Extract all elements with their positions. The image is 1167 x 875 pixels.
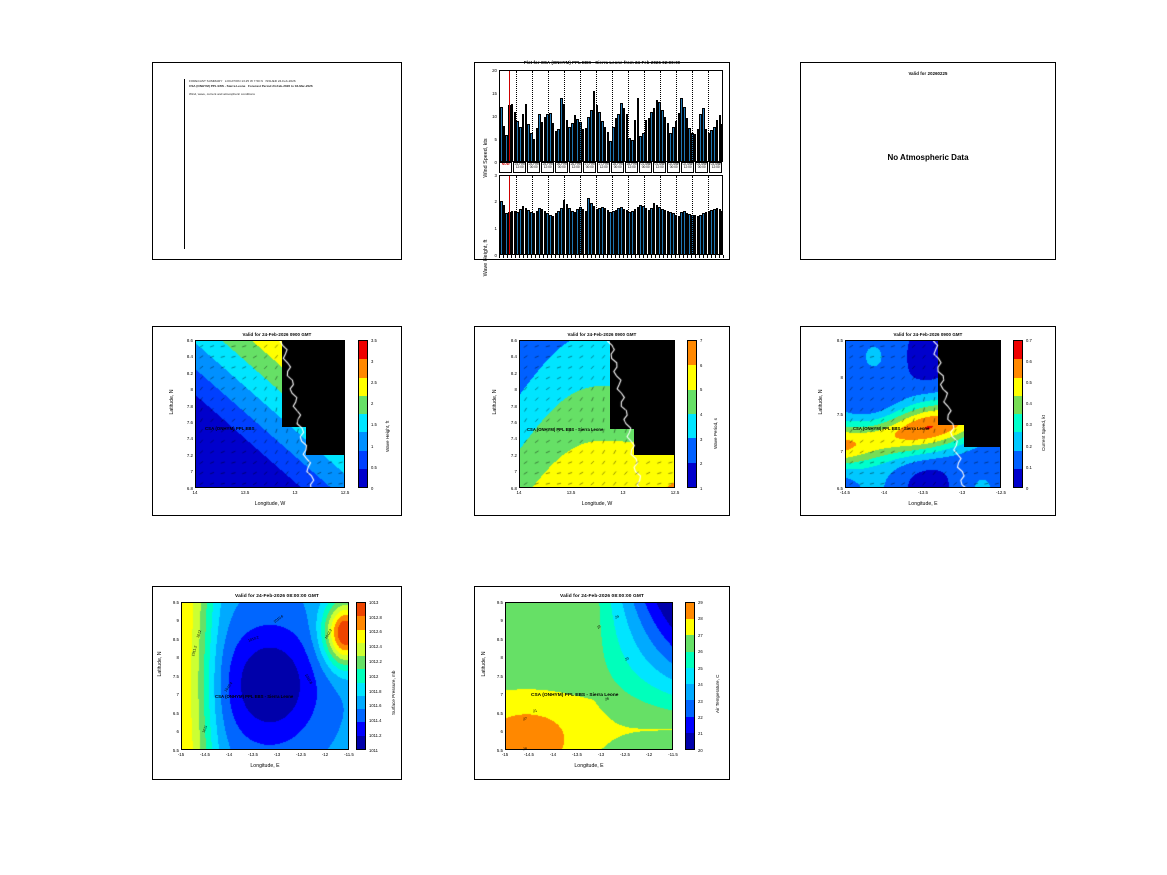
date-label: 28-Feb00:00 xyxy=(611,162,624,173)
ytick: 7.8 xyxy=(178,404,193,409)
colorbar-segment xyxy=(359,396,367,414)
ytick: 6.5 xyxy=(164,711,179,716)
gridline xyxy=(692,176,693,254)
gridline xyxy=(580,71,581,161)
axis-tick xyxy=(711,255,712,258)
forecast-header-panel: FORECAST SUMMARY LOCATION 13.25 W 7.50 N… xyxy=(152,62,402,260)
colorbar-tick: 1011.6 xyxy=(369,703,382,708)
axis-tick xyxy=(575,255,576,258)
air-temperature-map-panel: Valid for 24-Feb-2026 08:00:00 GMT Latit… xyxy=(474,586,730,780)
current-speed-colorbar xyxy=(1013,340,1023,488)
axis-tick xyxy=(671,255,672,258)
date-label: 03-Mar00:00 xyxy=(695,162,708,173)
date-label: 01-Mar00:00 xyxy=(639,162,652,173)
colorbar-tick: 0 xyxy=(1026,486,1028,491)
colorbar-segment xyxy=(686,684,694,700)
gridline xyxy=(612,176,613,254)
axis-tick xyxy=(511,255,512,258)
ytick: 0 xyxy=(483,253,497,258)
xtick: -12.5 xyxy=(992,490,1010,495)
ytick: 7.2 xyxy=(502,453,517,458)
colorbar-segment xyxy=(688,341,696,365)
axis-tick xyxy=(543,255,544,258)
ytick: 8.2 xyxy=(502,371,517,376)
date-label: 24-Feb12:00 xyxy=(513,162,526,173)
axis-tick xyxy=(639,255,640,258)
date-label: 02-Mar00:00 xyxy=(667,162,680,173)
xtick: -12 xyxy=(316,752,334,757)
axis-tick xyxy=(715,255,716,258)
axis-tick xyxy=(535,255,536,258)
colorbar-segment xyxy=(686,668,694,684)
axis-tick xyxy=(615,255,616,258)
xtick: -13.5 xyxy=(568,752,586,757)
colorbar-segment xyxy=(357,696,365,709)
airtemp-map-ylabel: Latitude, N xyxy=(481,609,487,719)
colorbar-segment xyxy=(357,603,365,616)
ytick: 6.8 xyxy=(178,486,193,491)
colorbar-tick: 27 xyxy=(698,633,703,638)
xtick: -13.5 xyxy=(244,752,262,757)
colorbar-segment xyxy=(686,635,694,651)
ytick: 8 xyxy=(178,387,193,392)
colorbar-tick: 1011 xyxy=(369,748,378,753)
colorbar-tick: 25 xyxy=(698,666,703,671)
axis-tick xyxy=(655,255,656,258)
wave-period-colorbar xyxy=(687,340,697,488)
xtick: -13.5 xyxy=(914,490,932,495)
xtick: 13 xyxy=(614,490,632,495)
axis-tick xyxy=(507,255,508,258)
header-line-1: FORECAST SUMMARY LOCATION 13.25 W 7.50 N… xyxy=(189,79,296,84)
colorbar-tick: 2.5 xyxy=(371,380,377,385)
colorbar-segment xyxy=(357,630,365,643)
xtick: 12.5 xyxy=(336,490,354,495)
ytick: 8.2 xyxy=(178,371,193,376)
gridline xyxy=(708,71,709,161)
wind-wave-timeseries-panel: Plot for CSA (ONHYM) PPL EBS - Sierra Le… xyxy=(474,62,730,260)
colorbar-segment xyxy=(357,683,365,696)
xtick: -12.5 xyxy=(292,752,310,757)
colorbar-segment xyxy=(1014,378,1022,396)
date-label: 28-Feb12:00 xyxy=(625,162,638,173)
ytick: 8.5 xyxy=(828,338,843,343)
axis-tick xyxy=(623,255,624,258)
axis-tick xyxy=(519,255,520,258)
colorbar-segment xyxy=(686,700,694,716)
gridline xyxy=(564,176,565,254)
wave-period-map-ylabel: Latitude, N xyxy=(492,347,498,457)
date-label: 25-Feb12:00 xyxy=(541,162,554,173)
axis-tick xyxy=(579,255,580,258)
airtemp-colorbar xyxy=(685,602,695,750)
ytick: 7 xyxy=(488,692,503,697)
ytick: 9.5 xyxy=(488,600,503,605)
colorbar-segment xyxy=(357,616,365,629)
ytick: 7.4 xyxy=(178,436,193,441)
colorbar-segment xyxy=(1014,451,1022,469)
date-label: 26-Feb00:00 xyxy=(555,162,568,173)
axis-tick xyxy=(683,255,684,258)
pressure-map-ylabel: Latitude, N xyxy=(157,609,163,719)
xtick: -14.5 xyxy=(836,490,854,495)
colorbar-tick: 3 xyxy=(700,437,702,442)
colorbar-segment xyxy=(357,722,365,735)
colorbar-tick: 1012.2 xyxy=(369,659,382,664)
wave-period-map-axes xyxy=(519,340,675,488)
gridline xyxy=(516,176,517,254)
now-marker-wave xyxy=(509,176,510,254)
colorbar-tick: 24 xyxy=(698,682,703,687)
axis-tick xyxy=(679,255,680,258)
site-label-wh: CSA (ONHYM) PPL EBS xyxy=(205,426,255,431)
colorbar-segment xyxy=(359,378,367,396)
gridline xyxy=(548,71,549,161)
axis-tick xyxy=(551,255,552,258)
axis-tick xyxy=(559,255,560,258)
date-label: 02-Mar12:00 xyxy=(681,162,694,173)
ytick: 15 xyxy=(483,91,497,96)
wave-height-map-panel: Valid for 24-Feb-2026 0900 GMT Latitude,… xyxy=(152,326,402,516)
colorbar-segment xyxy=(688,390,696,414)
ytick: 7 xyxy=(828,449,843,454)
wave-height-map-title: Valid for 24-Feb-2026 0900 GMT xyxy=(153,332,401,337)
colorbar-segment xyxy=(688,463,696,487)
ytick: 6.5 xyxy=(488,711,503,716)
no-atmos-title: Valid for 20260225 xyxy=(801,71,1055,76)
now-marker-wind xyxy=(509,71,510,161)
colorbar-tick: 4 xyxy=(700,412,702,417)
axis-tick xyxy=(571,255,572,258)
wind-speed-ylabel: Wind Speed, kts xyxy=(483,113,489,203)
site-label-cu: CSA (ONHYM) PPL EBS - Sierra Leone xyxy=(853,426,929,431)
wave-height-map-ylabel: Latitude, N xyxy=(169,347,175,457)
axis-tick xyxy=(499,255,500,258)
colorbar-tick: 23 xyxy=(698,699,703,704)
pressure-map-title: Valid for 24-Feb-2026 08:00:00 GMT xyxy=(153,594,401,599)
axis-tick xyxy=(667,255,668,258)
ytick: 7.2 xyxy=(178,453,193,458)
colorbar-segment xyxy=(686,717,694,733)
ytick: 8 xyxy=(164,655,179,660)
gridline xyxy=(628,176,629,254)
colorbar-tick: 3 xyxy=(371,359,373,364)
ytick: 8 xyxy=(488,655,503,660)
gridline xyxy=(580,176,581,254)
gridline xyxy=(708,176,709,254)
colorbar-tick: 2 xyxy=(700,461,702,466)
colorbar-tick: 1011.8 xyxy=(369,689,382,694)
ytick: 7.8 xyxy=(502,404,517,409)
colorbar-tick: 7 xyxy=(700,338,702,343)
axis-tick xyxy=(687,255,688,258)
ytick: 7 xyxy=(502,469,517,474)
colorbar-segment xyxy=(686,619,694,635)
pressure-colorbar-label: Surface Pressure, mb xyxy=(391,671,396,715)
wave-period-colorbar-label: Wave Period, s xyxy=(713,418,718,449)
colorbar-tick: 0.5 xyxy=(1026,380,1032,385)
colorbar-segment xyxy=(359,469,367,487)
date-label: 01-Mar12:00 xyxy=(653,162,666,173)
ytick: 0 xyxy=(483,160,497,165)
ytick: 6.8 xyxy=(502,486,517,491)
airtemp-colorbar-label: Air Temperature, C xyxy=(715,675,720,713)
axis-tick xyxy=(663,255,664,258)
current-speed-map-title: Valid for 24-Feb-2026 0900 GMT xyxy=(801,332,1055,337)
current-speed-map-axes xyxy=(845,340,1001,488)
xtick: -15 xyxy=(496,752,514,757)
colorbar-tick: 1 xyxy=(371,444,373,449)
ytick: 8.6 xyxy=(178,338,193,343)
xtick: 13 xyxy=(286,490,304,495)
colorbar-tick: 3.5 xyxy=(371,338,377,343)
axis-tick xyxy=(563,255,564,258)
axis-tick xyxy=(643,255,644,258)
colorbar-segment xyxy=(359,432,367,450)
ytick: 5 xyxy=(483,137,497,142)
colorbar-segment xyxy=(359,341,367,359)
colorbar-tick: 0.1 xyxy=(1026,465,1032,470)
site-label-wp: CSA (ONHYM) PPL EBS - Sierra Leone xyxy=(527,427,603,432)
colorbar-tick: 0.6 xyxy=(1026,359,1032,364)
axis-tick xyxy=(651,255,652,258)
axis-tick xyxy=(599,255,600,258)
colorbar-segment xyxy=(357,709,365,722)
ytick: 8.4 xyxy=(502,354,517,359)
colorbar-tick: 28 xyxy=(698,616,703,621)
current-speed-colorbar-label: Current Speed, kt xyxy=(1041,415,1046,451)
colorbar-tick: 0 xyxy=(371,486,373,491)
current-speed-map-panel: Valid for 24-Feb-2026 0900 GMT Latitude,… xyxy=(800,326,1056,516)
wave-height-axes xyxy=(499,175,723,255)
wave-height-gridlines xyxy=(500,176,722,254)
colorbar-tick: 0.2 xyxy=(1026,444,1032,449)
colorbar-tick: 1013 xyxy=(369,600,378,605)
axis-tick xyxy=(703,255,704,258)
gridline xyxy=(660,71,661,161)
ytick: 7 xyxy=(178,469,193,474)
header-line-3: Wind, wave, current and atmospheric cond… xyxy=(189,92,255,97)
ytick: 1 xyxy=(483,226,497,231)
axis-tick xyxy=(503,255,504,258)
ytick: 7.5 xyxy=(488,674,503,679)
ytick: 8.5 xyxy=(164,637,179,642)
axis-tick xyxy=(647,255,648,258)
xtick: -14 xyxy=(875,490,893,495)
current-speed-map-ylabel: Latitude, N xyxy=(818,347,824,457)
colorbar-segment xyxy=(357,643,365,656)
ytick: 7.5 xyxy=(164,674,179,679)
ytick: 10 xyxy=(483,114,497,119)
axis-tick xyxy=(607,255,608,258)
colorbar-segment xyxy=(357,736,365,749)
axis-tick xyxy=(675,255,676,258)
colorbar-tick: 0.7 xyxy=(1026,338,1032,343)
gridline xyxy=(628,71,629,161)
site-label-pr: CSA (ONHYM) PPL EBS - Sierra Leone xyxy=(215,694,293,699)
timeseries-title: Plot for CSA (ONHYM) PPL EBS - Sierra Le… xyxy=(475,60,729,65)
xtick: 13.5 xyxy=(236,490,254,495)
colorbar-segment xyxy=(1014,469,1022,487)
date-label: 03-Mar12:00 xyxy=(709,162,722,173)
axis-tick xyxy=(567,255,568,258)
axis-tick xyxy=(547,255,548,258)
axis-tick xyxy=(523,255,524,258)
wind-speed-gridlines xyxy=(500,71,722,161)
airtemp-map-axes xyxy=(505,602,673,750)
ytick: 9 xyxy=(164,618,179,623)
colorbar-segment xyxy=(359,414,367,432)
colorbar-segment xyxy=(359,359,367,377)
ytick: 6 xyxy=(488,729,503,734)
gridline xyxy=(596,176,597,254)
contour-label: 28 xyxy=(523,747,528,752)
xtick: 14 xyxy=(186,490,204,495)
axis-tick xyxy=(527,255,528,258)
ytick: 5.5 xyxy=(164,748,179,753)
vector-arrows xyxy=(196,341,345,488)
gridline xyxy=(532,176,533,254)
current-speed-map-xlabel: Longitude, E xyxy=(845,501,1001,507)
xtick: -15 xyxy=(172,752,190,757)
date-label: 26-Feb12:00 xyxy=(569,162,582,173)
ytick: 8.6 xyxy=(502,338,517,343)
gridline xyxy=(596,71,597,161)
xtick: -11.5 xyxy=(340,752,358,757)
colorbar-tick: 20 xyxy=(698,748,703,753)
ytick: 8 xyxy=(502,387,517,392)
axis-tick xyxy=(583,255,584,258)
gridline xyxy=(676,71,677,161)
colorbar-tick: 1012.6 xyxy=(369,629,382,634)
vector-arrows xyxy=(520,341,675,488)
colorbar-tick: 1 xyxy=(700,486,702,491)
colorbar-tick: 1012.4 xyxy=(369,644,382,649)
colorbar-segment xyxy=(688,414,696,438)
axis-tick xyxy=(707,255,708,258)
gridline xyxy=(548,176,549,254)
colorbar-segment xyxy=(686,733,694,749)
colorbar-tick: 6 xyxy=(700,363,702,368)
colorbar-segment xyxy=(688,365,696,389)
wind-speed-axes xyxy=(499,70,723,162)
colorbar-segment xyxy=(1014,359,1022,377)
contour-field xyxy=(506,603,673,750)
ytick: 3 xyxy=(483,173,497,178)
ytick: 20 xyxy=(483,68,497,73)
colorbar-tick: 5 xyxy=(700,387,702,392)
contour-label: 27 xyxy=(523,717,528,722)
no-atmospheric-data-panel: Valid for 20260225 No Atmospheric Data xyxy=(800,62,1056,260)
axis-tick xyxy=(695,255,696,258)
xtick: -13 xyxy=(268,752,286,757)
pressure-map-xlabel: Longitude, E xyxy=(181,763,349,769)
gridline xyxy=(644,176,645,254)
colorbar-tick: 0.5 xyxy=(371,465,377,470)
wave-height-map-xlabel: Longitude, W xyxy=(195,501,345,507)
pressure-colorbar xyxy=(356,602,366,750)
wave-period-map-xlabel: Longitude, W xyxy=(519,501,675,507)
ytick: 6 xyxy=(164,729,179,734)
gridline xyxy=(532,71,533,161)
gridline xyxy=(564,71,565,161)
colorbar-segment xyxy=(1014,432,1022,450)
axis-tick xyxy=(659,255,660,258)
colorbar-tick: 22 xyxy=(698,715,703,720)
xtick: -13 xyxy=(953,490,971,495)
ytick: 5.5 xyxy=(488,748,503,753)
colorbar-segment xyxy=(688,438,696,462)
ytick: 8 xyxy=(828,375,843,380)
colorbar-segment xyxy=(686,603,694,619)
colorbar-tick: 26 xyxy=(698,649,703,654)
axis-tick xyxy=(531,255,532,258)
axis-tick xyxy=(627,255,628,258)
colorbar-tick: 1.5 xyxy=(371,422,377,427)
now-label: NOW xyxy=(499,162,512,173)
xtick: -13 xyxy=(592,752,610,757)
ytick: 6.5 xyxy=(828,486,843,491)
axis-tick xyxy=(631,255,632,258)
gridline xyxy=(660,176,661,254)
ytick: 7 xyxy=(164,692,179,697)
axis-tick xyxy=(611,255,612,258)
date-label: 27-Feb12:00 xyxy=(597,162,610,173)
colorbar-tick: 1011.2 xyxy=(369,733,382,738)
axis-tick xyxy=(635,255,636,258)
axis-tick xyxy=(591,255,592,258)
ytick: 7.5 xyxy=(828,412,843,417)
colorbar-segment xyxy=(357,669,365,682)
ytick: 8.4 xyxy=(178,354,193,359)
surface-pressure-map-panel: Valid for 24-Feb-2026 08:00:00 GMT Latit… xyxy=(152,586,402,780)
ytick: 7.6 xyxy=(178,420,193,425)
ytick: 2 xyxy=(483,199,497,204)
contour-label: 21 xyxy=(533,709,538,714)
colorbar-tick: 1012 xyxy=(369,674,378,679)
colorbar-segment xyxy=(357,656,365,669)
date-label: 27-Feb00:00 xyxy=(583,162,596,173)
date-label: 25-Feb00:00 xyxy=(527,162,540,173)
colorbar-tick: 29 xyxy=(698,600,703,605)
axis-tick xyxy=(719,255,720,258)
airtemp-map-title: Valid for 24-Feb-2026 08:00:00 GMT xyxy=(475,594,729,599)
xtick: -14 xyxy=(544,752,562,757)
colorbar-tick: 0.3 xyxy=(1026,422,1032,427)
xtick: 14 xyxy=(510,490,528,495)
xtick: -12 xyxy=(640,752,658,757)
colorbar-segment xyxy=(686,652,694,668)
axis-tick xyxy=(619,255,620,258)
vector-arrows xyxy=(846,341,1001,488)
wave-period-map-panel: Valid for 24-Feb-2026 0900 GMT Latitude,… xyxy=(474,326,730,516)
wave-height-map-axes xyxy=(195,340,345,488)
gridline xyxy=(644,71,645,161)
axis-tick xyxy=(603,255,604,258)
gridline xyxy=(676,176,677,254)
xtick: -11.5 xyxy=(664,752,682,757)
ytick: 7.4 xyxy=(502,436,517,441)
xtick: 12.5 xyxy=(666,490,684,495)
wave-period-map-title: Valid for 24-Feb-2026 0900 GMT xyxy=(475,332,729,337)
colorbar-segment xyxy=(359,451,367,469)
axis-tick xyxy=(587,255,588,258)
xtick: -12.5 xyxy=(616,752,634,757)
ytick: 9.5 xyxy=(164,600,179,605)
ytick: 7.6 xyxy=(502,420,517,425)
axis-tick xyxy=(539,255,540,258)
colorbar-tick: 1011.4 xyxy=(369,718,382,723)
